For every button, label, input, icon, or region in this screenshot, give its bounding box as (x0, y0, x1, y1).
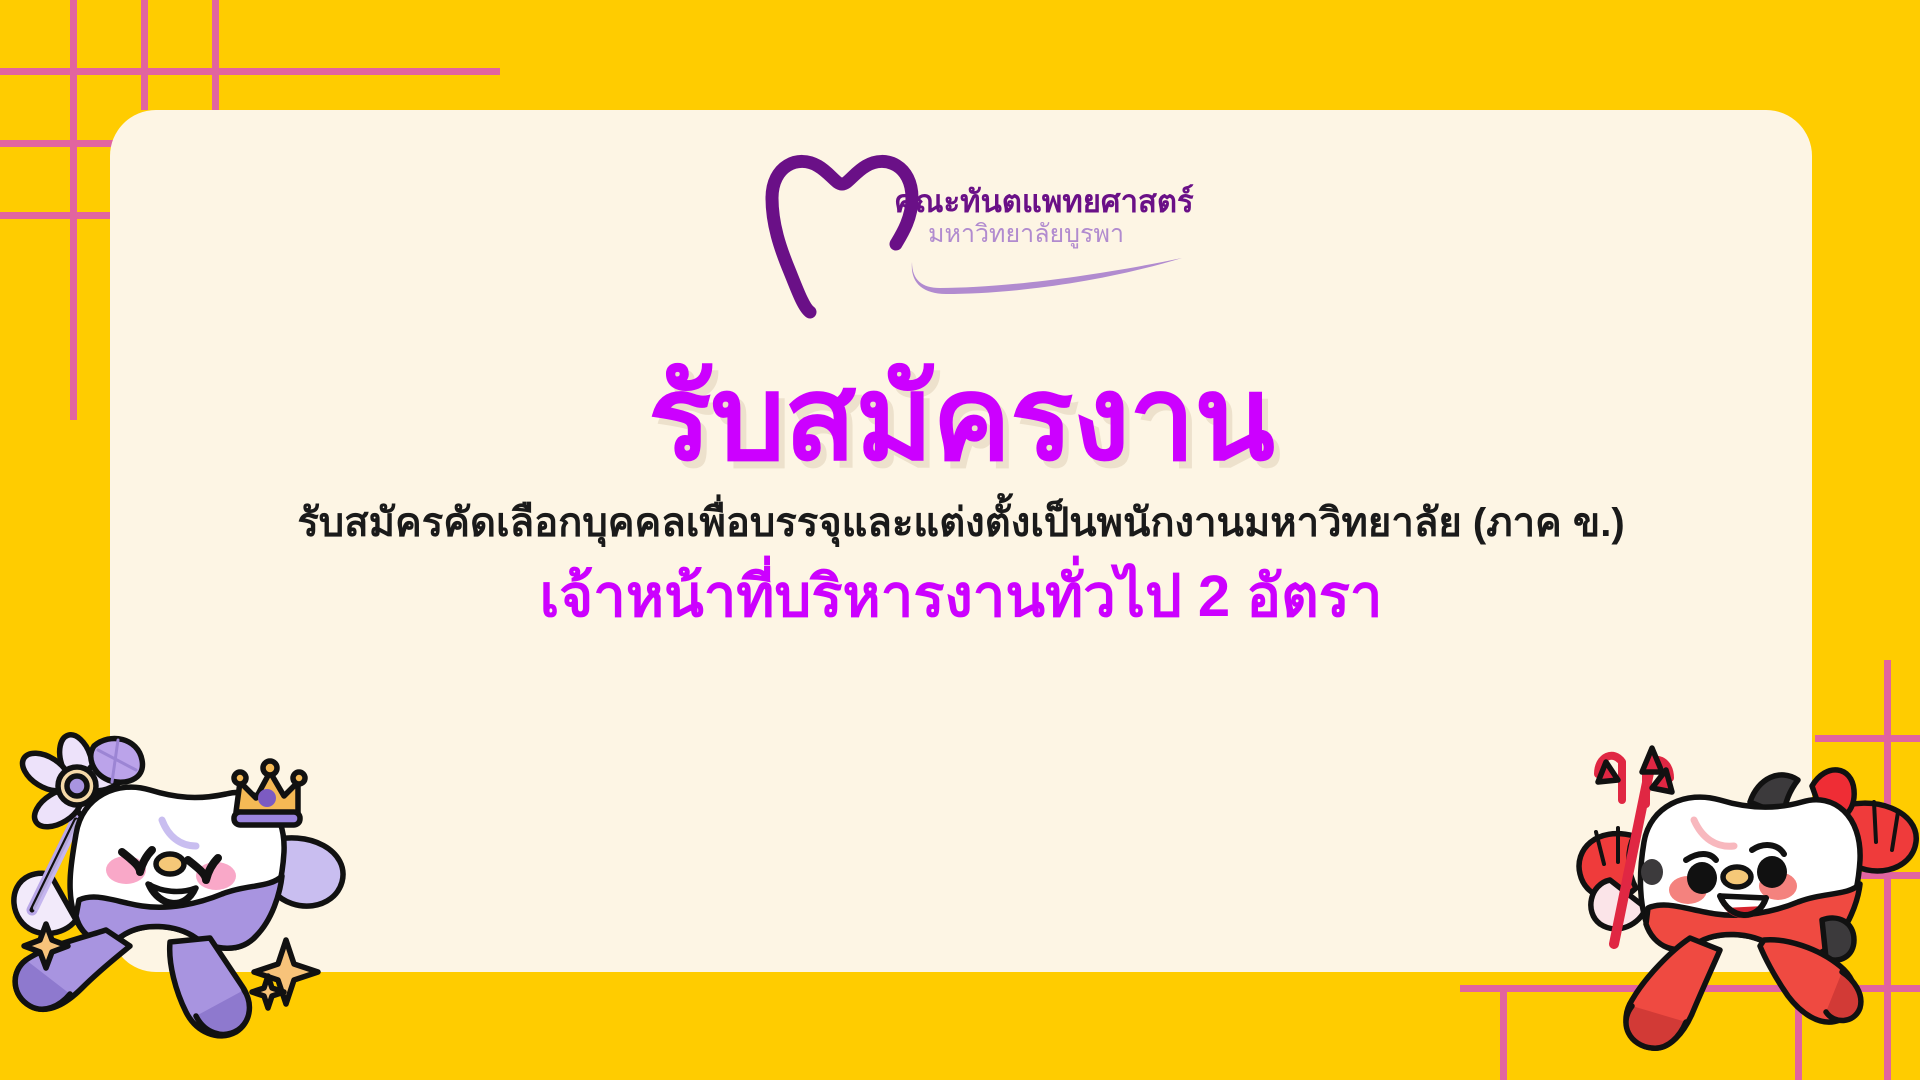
grid-line-vertical (1500, 985, 1507, 1080)
faculty-logo: คณะทันตแพทยศาสตร์ มหาวิทยาลัยบูรพา (110, 130, 1812, 330)
grid-line-vertical (141, 0, 148, 110)
headline-group: รับสมัครงาน รับสมัครคัดเลือกบุคคลเพื่อบร… (110, 360, 1812, 631)
grid-line-vertical (212, 0, 219, 110)
angel-tooth-mascot (0, 724, 370, 1080)
grid-line-vertical (70, 0, 77, 420)
page-title: รับสมัครงาน (110, 360, 1812, 478)
logo-text-group: คณะทันตแพทยศาสตร์ มหาวิทยาลัยบูรพา (894, 186, 1184, 248)
logo-swoosh-decoration (906, 248, 1186, 294)
headline-subtitle: รับสมัครคัดเลือกบุคคลเพื่อบรรจุและแต่งตั… (110, 500, 1812, 546)
logo-faculty-name: คณะทันตแพทยศาสตร์ (894, 186, 1184, 219)
logo-university-name: มหาวิทยาลัยบูรพา (928, 220, 1184, 249)
devil-tooth-mascot (1574, 724, 1920, 1080)
poster-canvas: คณะทันตแพทยศาสตร์ มหาวิทยาลัยบูรพา รับสม… (0, 0, 1920, 1080)
headline-position: เจ้าหน้าที่บริหารงานทั่วไป 2 อัตรา (110, 564, 1812, 631)
